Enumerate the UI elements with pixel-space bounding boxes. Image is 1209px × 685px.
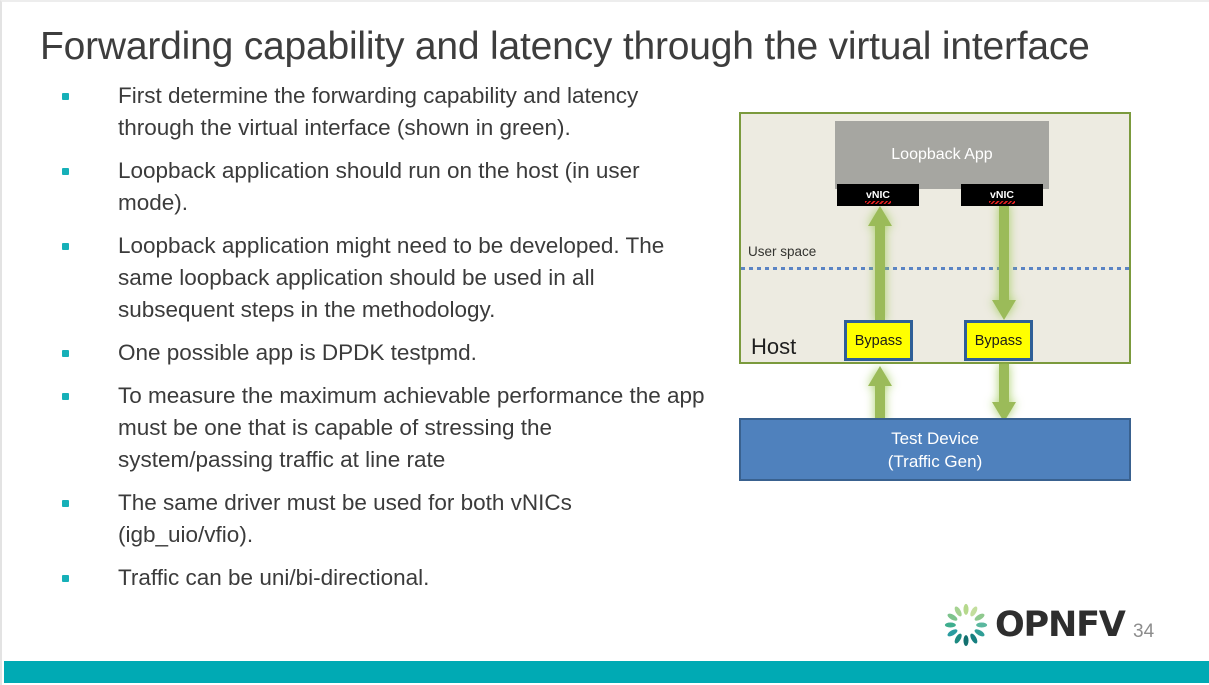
list-item: Traffic can be uni/bi-directional. [62,562,712,594]
arrow-down-outer-right-icon [990,364,1018,424]
page-title: Forwarding capability and latency throug… [40,24,1160,70]
kernel-user-divider [741,267,1129,270]
opnfv-logo: OPNFV [943,602,1125,648]
list-item: The same driver must be used for both vN… [62,487,712,551]
footer-accent-bar [4,661,1209,683]
bullet-dot-icon [62,500,69,507]
loopback-app-label: Loopback App [891,146,992,164]
bullet-dot-icon [62,93,69,100]
vnic-label: vNIC [866,189,890,202]
list-item-text: To measure the maximum achievable perfor… [118,380,712,476]
list-item-text: First determine the forwarding capabilit… [118,80,712,144]
list-item: Loopback application should run on the h… [62,155,712,219]
slide-canvas: Forwarding capability and latency throug… [0,0,1209,685]
bypass-box-left: Bypass [844,320,913,361]
list-item: One possible app is DPDK testpmd. [62,337,712,369]
test-device-line1: Test Device [891,427,979,450]
host-label: Host [751,334,796,360]
arrow-up-inner-left-icon [866,204,894,322]
bullet-dot-icon [62,575,69,582]
opnfv-petal-starburst-icon [943,602,989,648]
bypass-label: Bypass [855,333,903,349]
list-item: First determine the forwarding capabilit… [62,80,712,144]
loopback-app-box: Loopback App [835,121,1049,189]
bypass-box-right: Bypass [964,320,1033,361]
list-item-text: The same driver must be used for both vN… [118,487,712,551]
list-item-text: One possible app is DPDK testpmd. [118,337,712,369]
bypass-label: Bypass [975,333,1023,349]
vnic-box-left: vNIC [837,184,919,206]
list-item: Loopback application might need to be de… [62,230,712,326]
test-device-box: Test Device (Traffic Gen) [739,418,1131,481]
arrow-down-inner-right-icon [990,204,1018,322]
bullet-dot-icon [62,393,69,400]
list-item-text: Loopback application should run on the h… [118,155,712,219]
page-number: 34 [1133,621,1154,643]
list-item-text: Loopback application might need to be de… [118,230,712,326]
arrow-up-outer-left-icon [866,364,894,424]
list-item-text: Traffic can be uni/bi-directional. [118,562,712,594]
vnic-box-right: vNIC [961,184,1043,206]
opnfv-wordmark: OPNFV [995,608,1125,643]
bullet-dot-icon [62,243,69,250]
bullet-list: First determine the forwarding capabilit… [62,80,712,605]
list-item: To measure the maximum achievable perfor… [62,380,712,476]
bullet-dot-icon [62,168,69,175]
architecture-diagram: User space Host Loopback App vNIC vNIC B… [739,112,1131,482]
user-space-label: User space [748,244,816,259]
test-device-line2: (Traffic Gen) [888,450,982,473]
bullet-dot-icon [62,350,69,357]
vnic-label: vNIC [990,189,1014,202]
